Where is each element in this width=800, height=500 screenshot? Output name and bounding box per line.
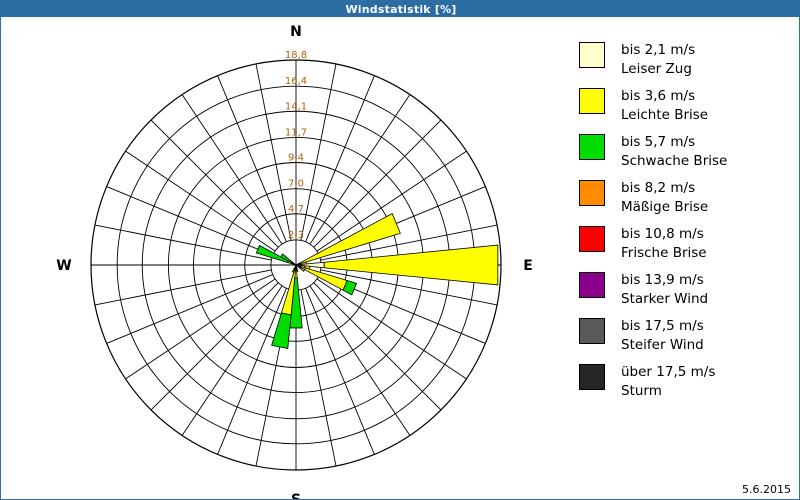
radial-tick-label: 9,4 [288, 153, 304, 164]
legend-label: bis 5,7 m/sSchwache Brise [621, 133, 727, 171]
legend-row: bis 2,1 m/sLeiser Zug [579, 41, 794, 81]
legend-description: Schwache Brise [621, 152, 727, 171]
legend-label: bis 10,8 m/sFrische Brise [621, 225, 707, 263]
legend-description: Steifer Wind [621, 336, 704, 355]
legend-speed: bis 10,8 m/s [621, 225, 707, 244]
legend-label: bis 2,1 m/sLeiser Zug [621, 41, 695, 79]
legend-label: bis 13,9 m/sStarker Wind [621, 271, 708, 309]
radial-tick-label: 16,4 [285, 76, 307, 87]
legend-speed: bis 17,5 m/s [621, 317, 704, 336]
wind-rose-wedge [324, 245, 498, 285]
legend-label: über 17,5 m/sSturm [621, 363, 715, 401]
radial-tick-label: 14,1 [285, 101, 307, 112]
windstatistik-window: Windstatistik [%] 2,34,77,09,411,714,116… [0, 0, 800, 500]
legend-row: bis 13,9 m/sStarker Wind [579, 271, 794, 311]
wind-rose-wedge [256, 245, 288, 262]
legend-label: bis 17,5 m/sSteifer Wind [621, 317, 704, 355]
legend-swatch [579, 318, 605, 344]
legend-swatch [579, 272, 605, 298]
legend-speed: bis 8,2 m/s [621, 179, 708, 198]
radial-tick-label: 2,3 [288, 230, 304, 241]
legend-swatch [579, 134, 605, 160]
legend-description: Starker Wind [621, 290, 708, 309]
legend-row: bis 3,6 m/sLeichte Brise [579, 87, 794, 127]
window-title: Windstatistik [%] [345, 3, 456, 16]
legend-label: bis 8,2 m/sMäßige Brise [621, 179, 708, 217]
compass-label-south: S [291, 492, 301, 499]
legend-row: bis 5,7 m/sSchwache Brise [579, 133, 794, 173]
legend-description: Leichte Brise [621, 106, 708, 125]
legend-speed: bis 13,9 m/s [621, 271, 708, 290]
radial-tick-label: 7,0 [288, 179, 304, 190]
radial-tick-label: 18,8 [285, 50, 307, 61]
date-stamp: 5.6.2015 [742, 483, 791, 496]
legend-speed: bis 5,7 m/s [621, 133, 727, 152]
compass-label-north: N [290, 24, 302, 40]
legend-description: Mäßige Brise [621, 198, 708, 217]
legend-swatch [579, 226, 605, 252]
legend-row: bis 17,5 m/sSteifer Wind [579, 317, 794, 357]
legend-swatch [579, 88, 605, 114]
compass-label-west: W [56, 258, 71, 274]
legend-description: Frische Brise [621, 244, 707, 263]
legend-speed: über 17,5 m/s [621, 363, 715, 382]
legend-description: Leiser Zug [621, 60, 695, 79]
legend-swatch [579, 364, 605, 390]
legend-row: bis 10,8 m/sFrische Brise [579, 225, 794, 265]
legend-swatch [579, 180, 605, 206]
radial-tick-label: 11,7 [285, 127, 307, 138]
legend-row: bis 8,2 m/sMäßige Brise [579, 179, 794, 219]
compass-label-east: E [523, 258, 533, 274]
legend-speed: bis 2,1 m/s [621, 41, 695, 60]
legend-speed: bis 3,6 m/s [621, 87, 708, 106]
legend: bis 2,1 m/sLeiser Zugbis 3,6 m/sLeichte … [579, 41, 794, 409]
legend-swatch [579, 42, 605, 68]
legend-label: bis 3,6 m/sLeichte Brise [621, 87, 708, 125]
window-titlebar: Windstatistik [%] [1, 1, 800, 17]
wind-rose-wedge [272, 313, 291, 349]
legend-row: über 17,5 m/sSturm [579, 363, 794, 403]
legend-description: Sturm [621, 382, 715, 401]
radial-tick-label: 4,7 [288, 204, 304, 215]
